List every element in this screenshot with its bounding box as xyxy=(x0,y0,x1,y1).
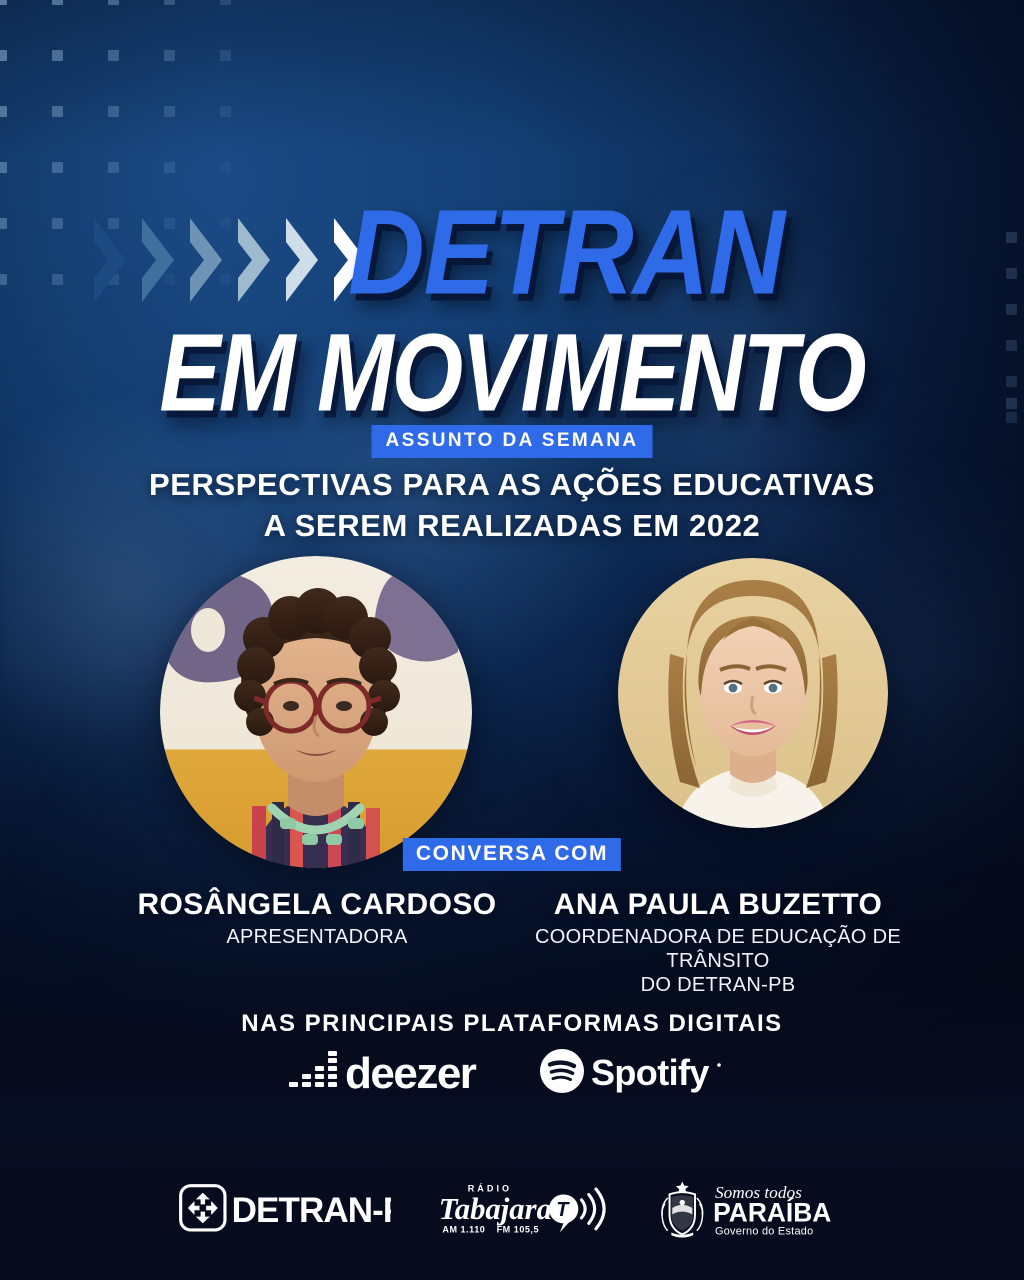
show-title: DETRAN EM MOVIMENTO xyxy=(0,196,1024,410)
paraiba-subtitle: Governo do Estado xyxy=(714,1225,812,1237)
portrait-rosangela-cardoso xyxy=(160,556,472,868)
svg-text:DETRAN-PB: DETRAN-PB xyxy=(231,1191,391,1230)
badge-assunto-da-semana: ASSUNTO DA SEMANA xyxy=(372,425,653,458)
paraiba-wordmark: PARAÍBA xyxy=(713,1198,831,1228)
headline-line-2: A SEREM REALIZADAS EM 2022 xyxy=(0,505,1024,546)
tabajara-am: AM 1.110 xyxy=(442,1224,485,1234)
background-dot xyxy=(108,162,119,173)
tabajara-wordmark: Tabajara xyxy=(439,1192,552,1226)
background-dot xyxy=(164,0,175,5)
person-role-line-1: APRESENTADORA xyxy=(92,925,542,949)
background-dot xyxy=(0,0,7,5)
deezer-equalizer-icon xyxy=(289,1051,337,1087)
paraiba-coat-of-arms-icon xyxy=(661,1182,702,1238)
background-dot xyxy=(52,50,63,61)
svg-text:Spotify: Spotify xyxy=(591,1052,709,1093)
platform-logos: deezer Spotify xyxy=(0,1048,1024,1094)
headline: PERSPECTIVAS PARA AS AÇÕES EDUCATIVAS A … xyxy=(0,464,1024,546)
background-dot xyxy=(220,50,231,61)
svg-text:deezer: deezer xyxy=(345,1049,477,1093)
person-role-line-2: DO DETRAN-PB xyxy=(492,973,944,997)
tabajara-fm: FM 105,5 xyxy=(497,1224,539,1234)
person-role-line-1: COORDENADORA DE EDUCAÇÃO DE TRÂNSITO xyxy=(492,925,944,973)
radio-wave-icon: T xyxy=(549,1189,604,1232)
background-dot xyxy=(164,50,175,61)
background-dot xyxy=(0,162,7,173)
poster: DETRAN EM MOVIMENTO ASSUNTO DA SEMANA PE… xyxy=(0,0,1024,1280)
person-role: APRESENTADORA xyxy=(92,925,542,949)
platforms-title: NAS PRINCIPAIS PLATAFORMAS DIGITAIS xyxy=(0,1010,1024,1038)
background-dot xyxy=(0,106,7,117)
background-dot xyxy=(164,106,175,117)
person-name: ANA PAULA BUZETTO xyxy=(492,888,944,922)
spotify-logo[interactable]: Spotify xyxy=(539,1048,735,1094)
person-name: ROSÂNGELA CARDOSO xyxy=(92,888,542,922)
background-dot xyxy=(108,50,119,61)
badge-conversa-com: CONVERSA COM xyxy=(403,838,621,871)
background-dot xyxy=(220,106,231,117)
detran-pb-logo: DETRAN-PB xyxy=(179,1184,391,1232)
background-dot xyxy=(164,162,175,173)
deezer-logo[interactable]: deezer xyxy=(289,1049,499,1093)
person-block-right: ANA PAULA BUZETTO COORDENADORA DE EDUCAÇ… xyxy=(492,888,944,997)
person-role: COORDENADORA DE EDUCAÇÃO DE TRÂNSITO DO … xyxy=(492,925,944,997)
paraiba-government-logo: Somos todos PARAÍBA Governo do Estado xyxy=(655,1178,846,1238)
detran-arrows-icon xyxy=(180,1186,224,1230)
footer-logos: DETRAN-PB RÁDIO Tabajara AM 1.110 FM 105… xyxy=(0,1178,1024,1238)
background-dot xyxy=(108,106,119,117)
portrait-ana-paula-buzetto xyxy=(618,558,888,828)
radio-tabajara-logo: RÁDIO Tabajara AM 1.110 FM 105,5 T xyxy=(437,1180,609,1236)
background-dot xyxy=(108,0,119,5)
title-detran: DETRAN xyxy=(99,196,1024,312)
background-dot xyxy=(220,0,231,5)
person-block-left: ROSÂNGELA CARDOSO APRESENTADORA xyxy=(92,888,542,949)
background-dot xyxy=(0,50,7,61)
background-dot xyxy=(52,0,63,5)
spotify-icon xyxy=(540,1049,584,1093)
background-dot xyxy=(52,162,63,173)
background-dot xyxy=(220,162,231,173)
headline-line-1: PERSPECTIVAS PARA AS AÇÕES EDUCATIVAS xyxy=(0,464,1024,505)
svg-text:T: T xyxy=(556,1199,570,1221)
title-em-movimento: EM MOVIMENTO xyxy=(0,318,1024,428)
background-dot xyxy=(52,106,63,117)
